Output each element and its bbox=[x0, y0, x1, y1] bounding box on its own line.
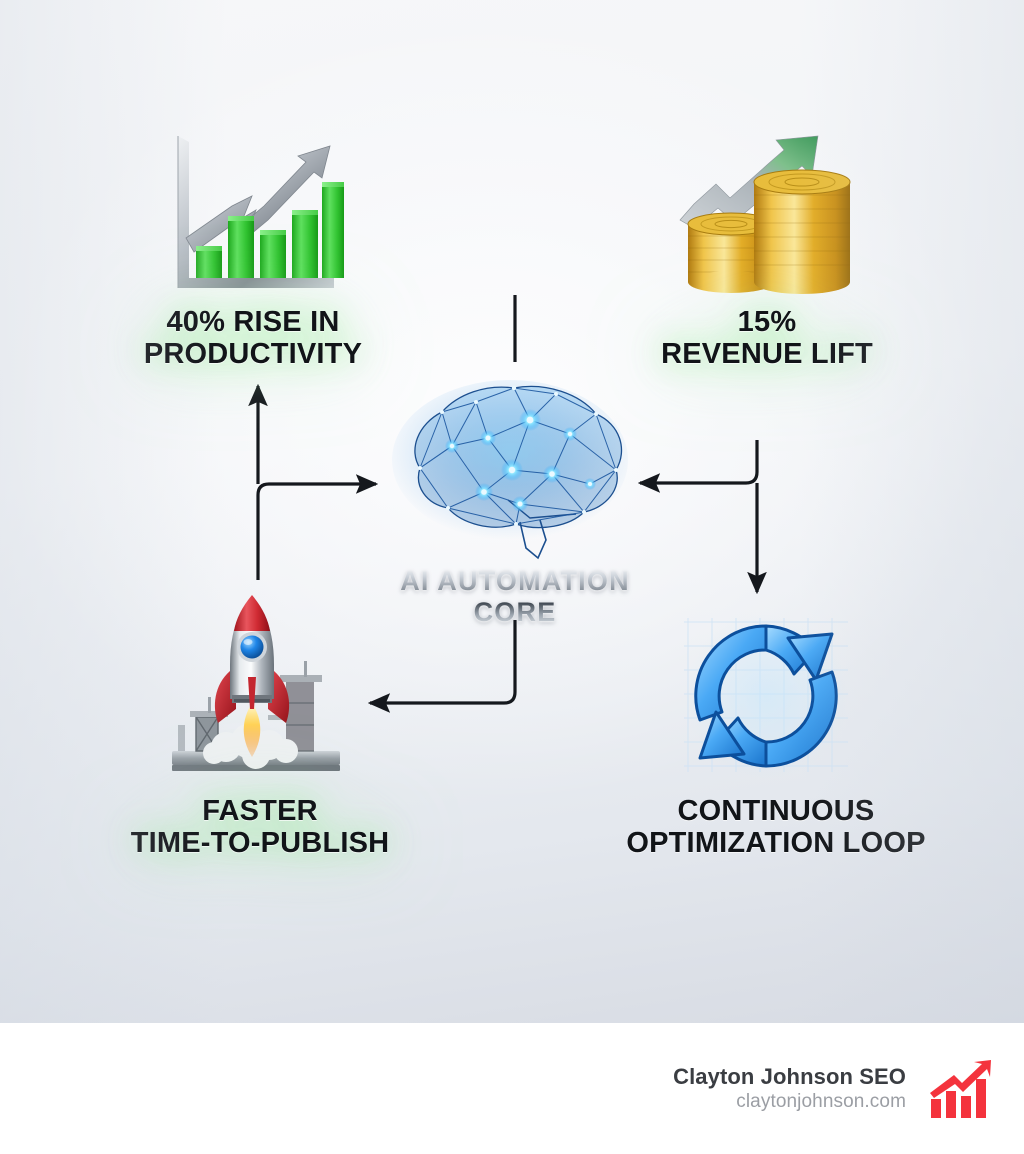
optimization-loop-label-line2: OPTIMIZATION LOOP bbox=[586, 827, 966, 859]
gold-coins-stack-icon bbox=[672, 128, 862, 308]
time-to-publish-label: FASTER TIME-TO-PUBLISH bbox=[80, 795, 440, 860]
circular-refresh-loop-icon bbox=[666, 602, 866, 792]
node-productivity[interactable] bbox=[158, 128, 348, 308]
core-label: AI AUTOMATION CORE bbox=[355, 566, 675, 628]
core-label-line1: AI AUTOMATION bbox=[355, 566, 675, 597]
optimization-loop-label-line1: CONTINUOUS bbox=[586, 795, 966, 827]
node-ai-core[interactable] bbox=[380, 372, 650, 562]
time-to-publish-label-line1: FASTER bbox=[80, 795, 440, 827]
node-revenue[interactable] bbox=[672, 128, 862, 308]
bar-chart-growth-icon bbox=[158, 128, 348, 308]
red-bar-chart-arrow-logo bbox=[928, 1059, 994, 1119]
infographic-page: AI AUTOMATION CORE bbox=[0, 0, 1024, 1154]
revenue-label-line1: 15% bbox=[612, 306, 922, 338]
node-time-to-publish[interactable] bbox=[156, 585, 356, 790]
optimization-loop-label: CONTINUOUS OPTIMIZATION LOOP bbox=[586, 795, 966, 860]
revenue-label: 15% REVENUE LIFT bbox=[612, 306, 922, 371]
time-to-publish-label-line2: TIME-TO-PUBLISH bbox=[80, 827, 440, 859]
node-optimization-loop[interactable] bbox=[666, 602, 866, 792]
productivity-label-line1: 40% RISE IN bbox=[92, 306, 414, 338]
brand-name: Clayton Johnson SEO bbox=[673, 1063, 906, 1091]
revenue-label-line2: REVENUE LIFT bbox=[612, 338, 922, 370]
footer-bar: Clayton Johnson SEO claytonjohnson.com bbox=[0, 1023, 1024, 1154]
neural-brain-icon bbox=[380, 372, 650, 562]
rocket-launch-icon bbox=[156, 585, 356, 790]
brand-block[interactable]: Clayton Johnson SEO claytonjohnson.com bbox=[673, 1059, 994, 1119]
core-label-line2: CORE bbox=[355, 597, 675, 628]
brand-text: Clayton Johnson SEO claytonjohnson.com bbox=[673, 1063, 906, 1114]
brand-url: claytonjohnson.com bbox=[673, 1090, 906, 1114]
productivity-label-line2: PRODUCTIVITY bbox=[92, 338, 414, 370]
connector-core-to-rocket bbox=[370, 620, 515, 703]
infographic-canvas: AI AUTOMATION CORE bbox=[0, 0, 1024, 1023]
productivity-label: 40% RISE IN PRODUCTIVITY bbox=[92, 306, 414, 371]
connector-revenue-to-core bbox=[640, 440, 757, 483]
